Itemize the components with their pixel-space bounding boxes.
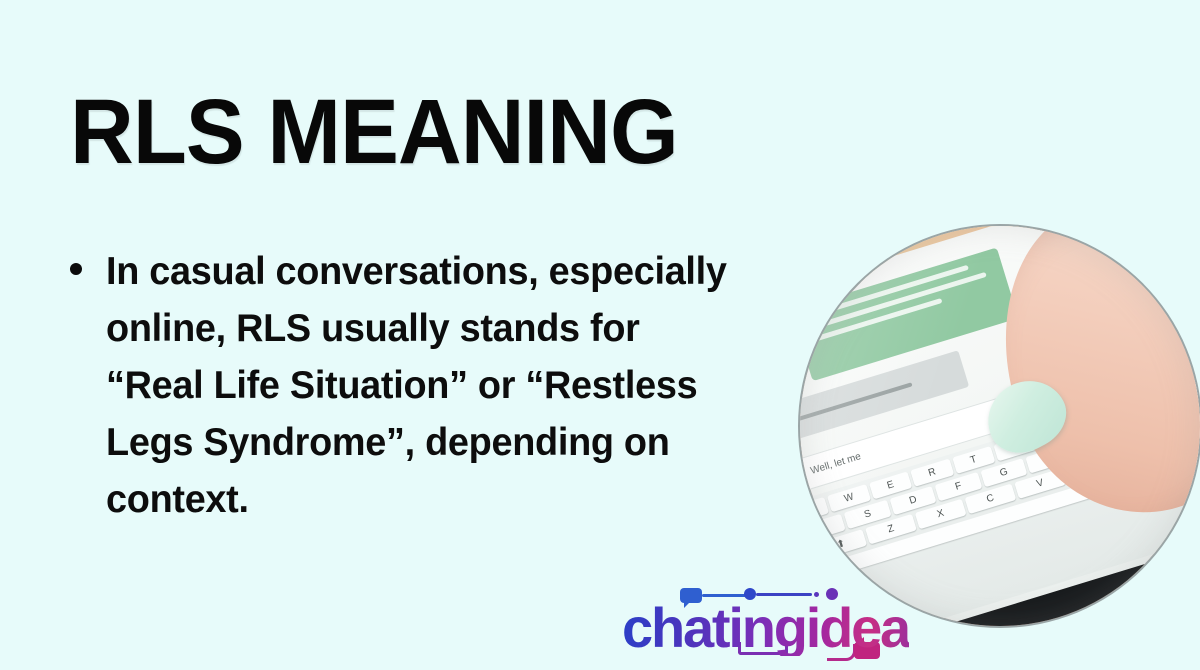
body-bullet-list: In casual conversations, especially onli… xyxy=(64,243,754,528)
list-item: In casual conversations, especially onli… xyxy=(64,243,754,528)
logo-wordmark: chatingidea xyxy=(622,600,909,656)
page-title: RLS MEANING xyxy=(70,86,678,178)
bullet-text: In casual conversations, especially onli… xyxy=(106,243,735,528)
bullet-dot-icon xyxy=(70,263,82,275)
phone-texting-photo: Well, let me Q W E R T Y U I O P A xyxy=(800,226,1200,626)
message-input-value: Well, let me xyxy=(809,451,862,477)
infographic-card: RLS MEANING In casual conversations, esp… xyxy=(0,0,1200,670)
brand-logo[interactable]: chatingidea xyxy=(622,588,952,662)
